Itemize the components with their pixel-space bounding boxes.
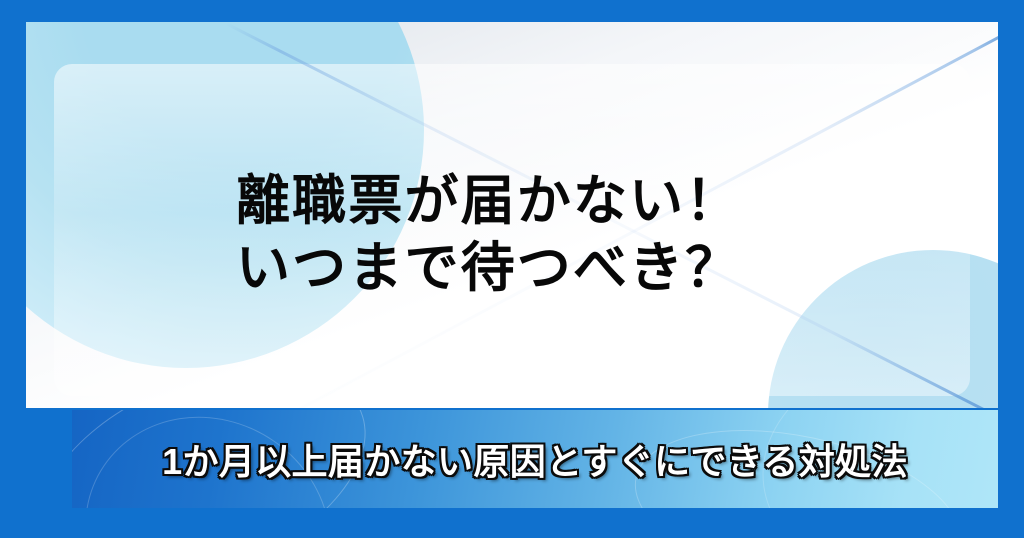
subtitle-text: 1か月以上届かない原因とすぐにできる対処法 <box>72 410 998 508</box>
eyecatch-banner: 離職票が届かない！ いつまで待つべき？ 1か月以上届かない原因とすぐにできる対処… <box>0 0 1024 538</box>
page-title: 離職票が届かない！ いつまで待つべき？ <box>236 172 741 299</box>
title-line-2: いつまで待つべき？ <box>236 239 741 298</box>
hero-card: 離職票が届かない！ いつまで待つべき？ <box>26 22 998 408</box>
subtitle-banner: 1か月以上届かない原因とすぐにできる対処法 <box>72 410 998 508</box>
title-line-1: 離職票が届かない！ <box>236 172 741 231</box>
